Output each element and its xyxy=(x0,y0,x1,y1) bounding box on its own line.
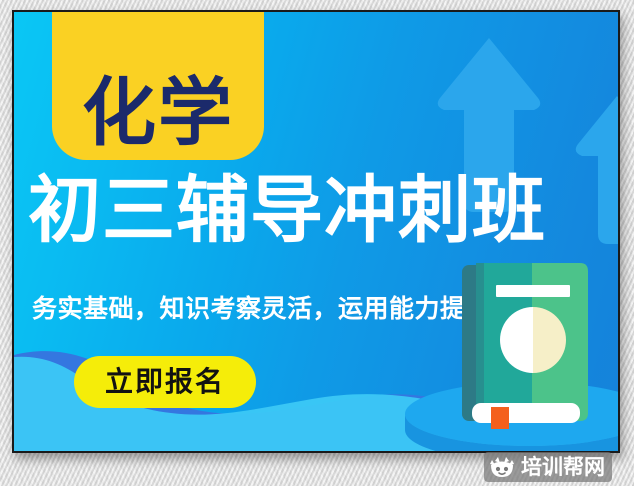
enroll-now-button-label: 立即报名 xyxy=(105,368,225,396)
subject-badge: 化学 xyxy=(52,10,264,160)
image-canvas: 化学 初三辅导冲刺班 务实基础，知识考察灵活，运用能力提升 xyxy=(0,0,634,486)
promotional-banner: 化学 初三辅导冲刺班 务实基础，知识考察灵活，运用能力提升 xyxy=(12,10,620,453)
watermark-text: 培训帮网 xyxy=(521,457,605,478)
book-illustration xyxy=(462,263,588,429)
enroll-now-button[interactable]: 立即报名 xyxy=(74,356,256,408)
subject-badge-label: 化学 xyxy=(82,76,234,150)
watermark: 培训帮网 xyxy=(484,452,612,482)
page-title: 初三辅导冲刺班 xyxy=(28,174,608,247)
sun-face-icon xyxy=(489,456,515,478)
subtitle-text: 务实基础，知识考察灵活，运用能力提升 xyxy=(32,295,491,323)
